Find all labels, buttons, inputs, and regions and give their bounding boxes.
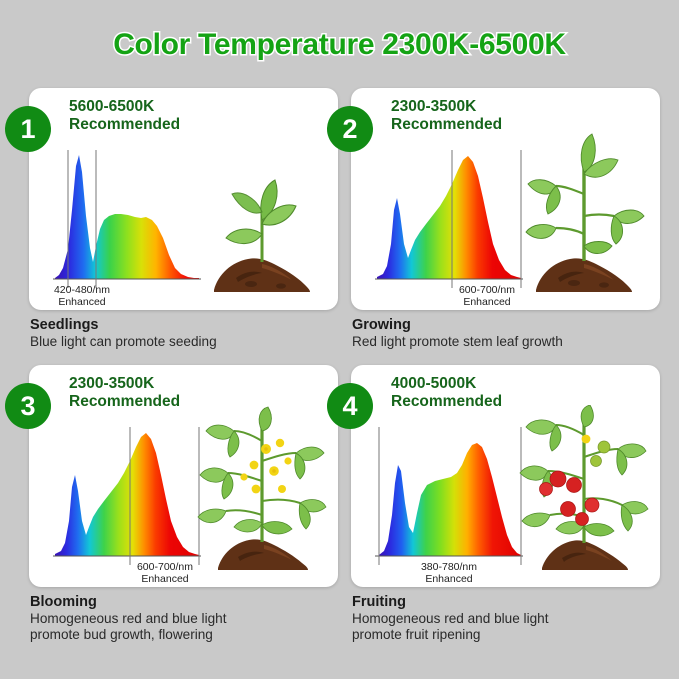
kelvin-label: 5600-6500K Recommended xyxy=(69,98,180,133)
panel-caption: Growing Red light promote stem leaf grow… xyxy=(351,316,660,350)
caption-description: Homogeneous red and blue light promote b… xyxy=(30,611,338,644)
caption-title: Blooming xyxy=(30,593,338,611)
panel-number-badge: 1 xyxy=(5,106,51,152)
plant-illustration-fruiting-plant xyxy=(518,405,650,577)
spectrum-curve-fill xyxy=(379,443,521,556)
panel-3: 3 2300-3500K Recommended xyxy=(29,365,338,644)
panel-caption: Seedlings Blue light can promote seeding xyxy=(29,316,338,350)
spectrum-curve-fill xyxy=(55,433,199,556)
kelvin-label: 2300-3500K Recommended xyxy=(391,98,502,133)
panel-number-badge: 2 xyxy=(327,106,373,152)
panel-number-badge: 3 xyxy=(5,383,51,429)
spectrum-curve-fill xyxy=(377,156,521,279)
caption-description: Homogeneous red and blue light promote f… xyxy=(352,611,660,644)
spectrum-chart: 380-780/nm Enhanced xyxy=(373,421,525,573)
soil-mound xyxy=(536,258,632,292)
soil-mound xyxy=(214,258,310,292)
seedling-stem-leaves xyxy=(226,180,296,262)
panel-card: 4 4000-5000K Recommended xyxy=(351,365,660,587)
panel-card: 2 2300-3500K Recommended xyxy=(351,88,660,310)
caption-title: Growing xyxy=(352,316,660,334)
soil-mound xyxy=(542,540,628,570)
plant-illustration-seedling xyxy=(196,128,328,300)
plant-illustration-flowering-plant xyxy=(196,405,328,577)
kelvin-label: 4000-5000K Recommended xyxy=(391,375,502,410)
panel-number-badge: 4 xyxy=(327,383,373,429)
nm-annotation: 420-480/nm Enhanced xyxy=(17,284,147,309)
page-title: Color Temperature 2300K-6500K xyxy=(0,28,679,62)
panel-4: 4 4000-5000K Recommended xyxy=(351,365,660,644)
panel-card: 3 2300-3500K Recommended xyxy=(29,365,338,587)
tomatoes-red xyxy=(540,435,611,526)
panel-caption: Blooming Homogeneous red and blue light … xyxy=(29,593,338,644)
soil-mound xyxy=(218,539,308,570)
spectrum-chart: 600-700/nm Enhanced xyxy=(373,144,525,296)
plant-stem-leaves xyxy=(198,407,326,542)
caption-description: Red light promote stem leaf growth xyxy=(352,334,660,350)
spectrum-chart: 420-480/nm Enhanced xyxy=(51,144,203,296)
spectrum-chart: 600-700/nm Enhanced xyxy=(51,421,203,573)
panel-caption: Fruiting Homogeneous red and blue light … xyxy=(351,593,660,644)
panel-2: 2 2300-3500K Recommended xyxy=(351,88,660,350)
caption-description: Blue light can promote seeding xyxy=(30,334,338,350)
nm-annotation: 380-780/nm Enhanced xyxy=(384,561,514,586)
panel-1: 1 5600-6500K Recommended xyxy=(29,88,338,350)
flowers-yellow xyxy=(240,439,291,494)
panel-card: 1 5600-6500K Recommended xyxy=(29,88,338,310)
plant-stem-leaves xyxy=(526,134,644,261)
plant-illustration-young-plant xyxy=(518,128,650,300)
spectrum-curve-fill xyxy=(55,155,199,279)
caption-title: Seedlings xyxy=(30,316,338,334)
caption-title: Fruiting xyxy=(352,593,660,611)
kelvin-label: 2300-3500K Recommended xyxy=(69,375,180,410)
infographic-page: Color Temperature 2300K-6500K 1 5600-650… xyxy=(0,0,679,679)
